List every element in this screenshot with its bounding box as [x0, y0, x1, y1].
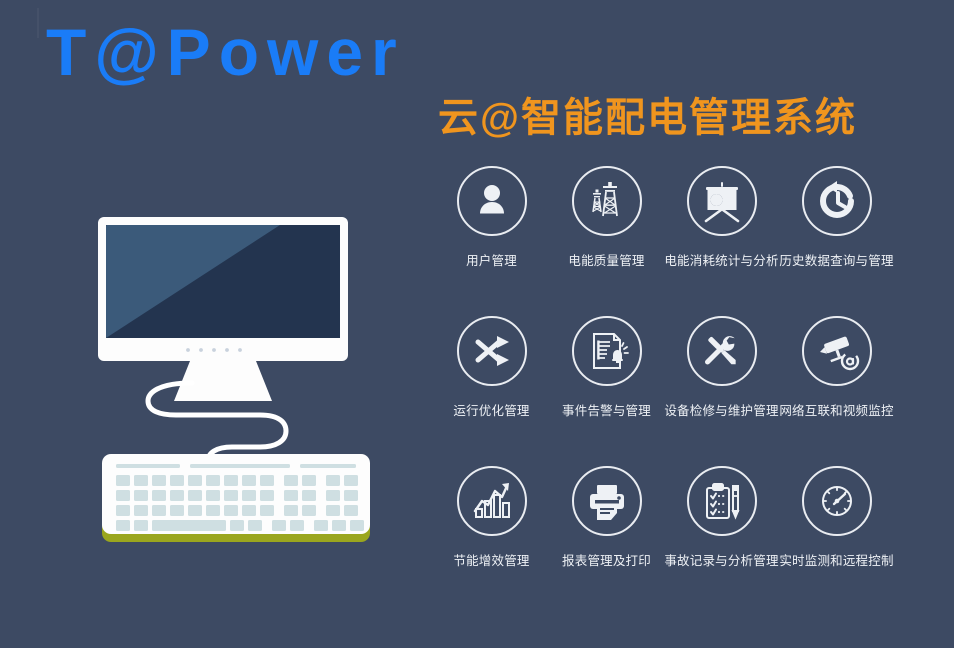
- feature-item-equipment-maintenance[interactable]: 设备检修与维护管理: [664, 316, 779, 466]
- growth-chart-icon: [457, 466, 527, 536]
- background-artifact-line: [37, 8, 39, 38]
- gauge-icon: [802, 466, 872, 536]
- feature-item-network-video-monitoring[interactable]: 网络互联和视频监控: [779, 316, 894, 466]
- feature-item-incident-record[interactable]: 事故记录与分析管理: [664, 466, 779, 616]
- feature-item-report-print[interactable]: 报表管理及打印: [549, 466, 664, 616]
- feature-label: 用户管理: [466, 250, 517, 269]
- feature-item-event-alarm[interactable]: 事件告警与管理: [549, 316, 664, 466]
- feature-label: 网络互联和视频监控: [779, 400, 893, 419]
- feature-label: 事故记录与分析管理: [664, 550, 778, 569]
- poster-root: T@Power 云@智能配电管理系统: [0, 0, 954, 648]
- history-clock-icon: [802, 166, 872, 236]
- feature-icon-grid: 用户管理: [434, 166, 894, 616]
- feature-label: 报表管理及打印: [562, 550, 651, 569]
- document-alarm-icon: [572, 316, 642, 386]
- keyboard-function-bars: [116, 464, 356, 468]
- user-icon: [457, 166, 527, 236]
- feature-item-realtime-monitoring[interactable]: 实时监测和远程控制: [779, 466, 894, 616]
- feature-item-consumption-analysis[interactable]: 电能消耗统计与分析: [664, 166, 779, 316]
- clipboard-pen-icon: [687, 466, 757, 536]
- feature-label: 事件告警与管理: [562, 400, 651, 419]
- feature-label: 运行优化管理: [453, 400, 529, 419]
- wrench-screwdriver-icon: [687, 316, 757, 386]
- page-subtitle: 云@智能配电管理系统: [438, 96, 857, 140]
- feature-item-history-data[interactable]: 历史数据查询与管理: [779, 166, 894, 316]
- feature-label: 实时监测和远程控制: [779, 550, 893, 569]
- desktop-computer-illustration: [80, 205, 390, 545]
- feature-item-energy-saving[interactable]: 节能增效管理: [434, 466, 549, 616]
- cctv-camera-at-icon: [802, 316, 872, 386]
- presentation-chart-icon: [687, 166, 757, 236]
- power-tower-icon: [572, 166, 642, 236]
- feature-item-power-quality[interactable]: 电能质量管理: [549, 166, 664, 316]
- printer-icon: [572, 466, 642, 536]
- feature-label: 电能质量管理: [568, 250, 644, 269]
- feature-label: 电能消耗统计与分析: [664, 250, 778, 269]
- feature-label: 节能增效管理: [453, 550, 529, 569]
- feature-item-user-management[interactable]: 用户管理: [434, 166, 549, 316]
- feature-item-operation-optimization[interactable]: 运行优化管理: [434, 316, 549, 466]
- page-title: T@Power: [46, 16, 405, 89]
- feature-label: 历史数据查询与管理: [779, 250, 893, 269]
- feature-label: 设备检修与维护管理: [664, 400, 778, 419]
- shuffle-arrows-icon: [457, 316, 527, 386]
